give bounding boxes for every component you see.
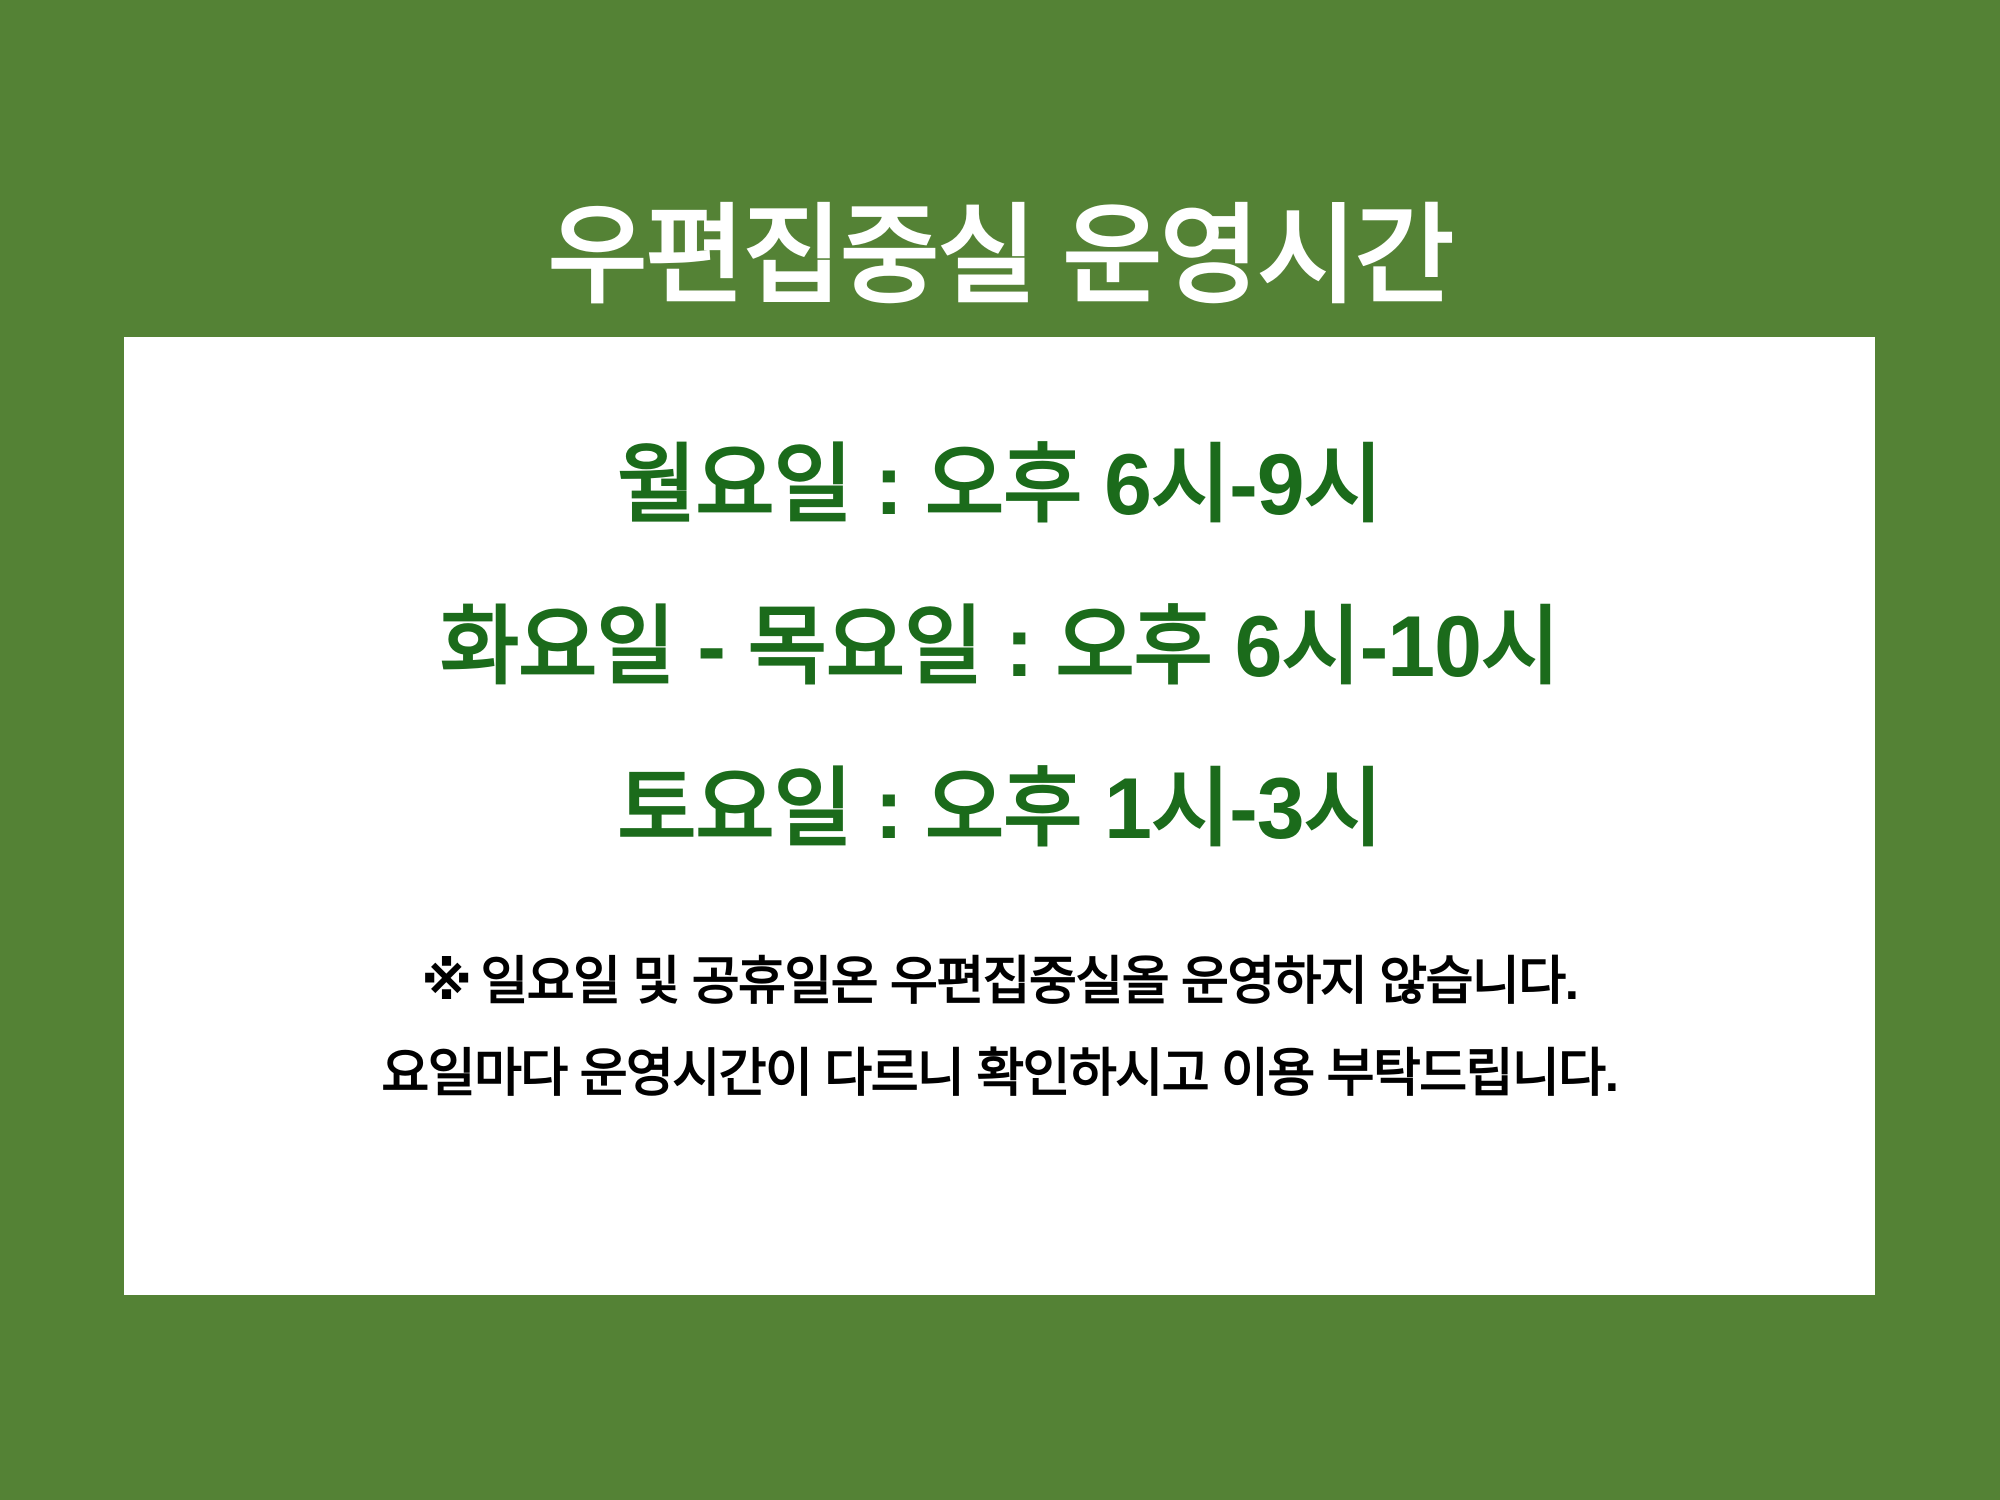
reference-mark-icon: ※ xyxy=(421,956,470,1008)
hours-row-monday: 월요일 : 오후 6시-9시 xyxy=(617,442,1381,528)
note-closed-days-text: 일요일 및 공휴일온 우편집중실올 운영하지 않습니다. xyxy=(480,953,1577,1011)
note-closed-days: ※일요일 및 공휴일온 우편집중실올 운영하지 않습니다. xyxy=(421,956,1577,1008)
hours-list: 월요일 : 오후 6시-9시 화요일 - 목요일 : 오후 6시-10시 토요일… xyxy=(124,442,1875,852)
note-varying-hours: 요일마다 운영시간이 다르니 확인하시고 이용 부탁드립니다. xyxy=(381,1048,1617,1100)
hours-row-saturday: 토요일 : 오후 1시-3시 xyxy=(617,766,1381,852)
operating-hours-poster: 우편집중실 운영시간 월요일 : 오후 6시-9시 화요일 - 목요일 : 오후… xyxy=(0,0,2000,1500)
hours-row-tuesday-thursday: 화요일 - 목요일 : 오후 6시-10시 xyxy=(440,604,1559,690)
hours-card: 월요일 : 오후 6시-9시 화요일 - 목요일 : 오후 6시-10시 토요일… xyxy=(124,337,1875,1295)
notes-list: ※일요일 및 공휴일온 우편집중실올 운영하지 않습니다. 요일마다 운영시간이… xyxy=(124,956,1875,1100)
page-title: 우편집중실 운영시간 xyxy=(0,194,2000,318)
